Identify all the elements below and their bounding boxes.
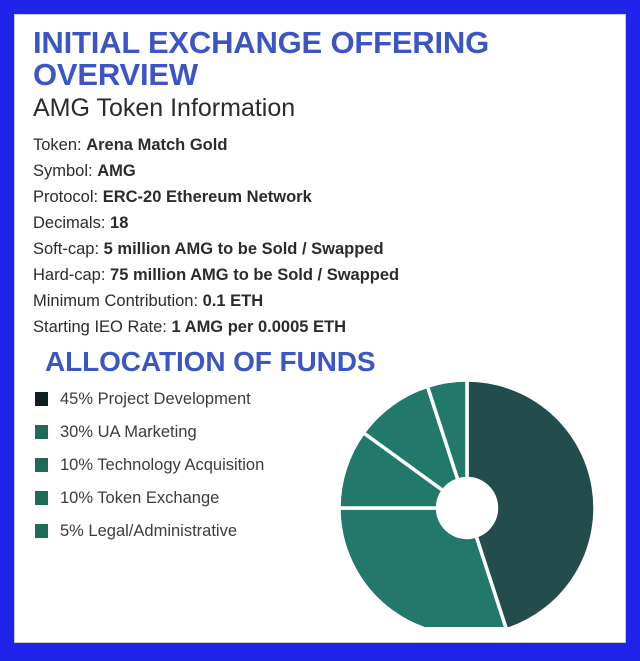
- token-info-row: Hard-cap: 75 million AMG to be Sold / Sw…: [33, 262, 619, 288]
- token-info-key: Decimals:: [33, 214, 105, 232]
- token-info-row: Decimals: 18: [33, 210, 619, 236]
- legend-item: 10% Technology Acquisition: [35, 449, 335, 482]
- token-info-row: Minimum Contribution: 0.1 ETH: [33, 288, 619, 314]
- legend-label: 10% Technology Acquisition: [60, 456, 264, 475]
- allocation-donut-chart: [322, 365, 612, 627]
- legend-swatch-icon: [35, 392, 48, 406]
- token-info-key: Starting IEO Rate:: [33, 318, 167, 336]
- token-info-value: Arena Match Gold: [86, 136, 227, 154]
- page-subtitle: AMG Token Information: [15, 91, 625, 123]
- token-info-key: Token:: [33, 136, 82, 154]
- legend-label: 10% Token Exchange: [60, 489, 219, 508]
- token-info-value: 1 AMG per 0.0005 ETH: [172, 318, 347, 336]
- legend-swatch-icon: [35, 458, 48, 472]
- donut-slice: [339, 508, 507, 627]
- poster-frame: INITIAL EXCHANGE OFFERING OVERVIEW AMG T…: [0, 0, 640, 661]
- token-info-row: Symbol: AMG: [33, 158, 619, 184]
- token-info-value: ERC-20 Ethereum Network: [103, 188, 312, 206]
- token-info-row: Soft-cap: 5 million AMG to be Sold / Swa…: [33, 236, 619, 262]
- legend-swatch-icon: [35, 425, 48, 439]
- token-info-key: Protocol:: [33, 188, 98, 206]
- token-info-value: 75 million AMG to be Sold / Swapped: [110, 266, 399, 284]
- content-card: INITIAL EXCHANGE OFFERING OVERVIEW AMG T…: [14, 14, 626, 643]
- page-title: INITIAL EXCHANGE OFFERING OVERVIEW: [15, 15, 625, 91]
- legend-item: 10% Token Exchange: [35, 482, 335, 515]
- token-info-key: Soft-cap:: [33, 240, 99, 258]
- token-info-row: Token: Arena Match Gold: [33, 132, 619, 158]
- legend-item: 45% Project Development: [35, 383, 335, 416]
- token-info-key: Hard-cap:: [33, 266, 105, 284]
- token-info-row: Starting IEO Rate: 1 AMG per 0.0005 ETH: [33, 314, 619, 340]
- token-info-value: AMG: [97, 162, 136, 180]
- donut-svg: [322, 365, 612, 627]
- allocation-section: 45% Project Development30% UA Marketing1…: [15, 377, 625, 627]
- legend-item: 5% Legal/Administrative: [35, 515, 335, 548]
- legend-label: 30% UA Marketing: [60, 423, 197, 442]
- token-info-key: Minimum Contribution:: [33, 292, 198, 310]
- legend-label: 45% Project Development: [60, 390, 251, 409]
- legend-swatch-icon: [35, 491, 48, 505]
- token-info-key: Symbol:: [33, 162, 93, 180]
- chart-legend: 45% Project Development30% UA Marketing1…: [35, 383, 335, 548]
- legend-label: 5% Legal/Administrative: [60, 522, 237, 541]
- token-info-value: 0.1 ETH: [203, 292, 264, 310]
- token-info-value: 18: [110, 214, 128, 232]
- legend-swatch-icon: [35, 524, 48, 538]
- token-info-row: Protocol: ERC-20 Ethereum Network: [33, 184, 619, 210]
- token-info-value: 5 million AMG to be Sold / Swapped: [104, 240, 384, 258]
- legend-item: 30% UA Marketing: [35, 416, 335, 449]
- token-info-list: Token: Arena Match GoldSymbol: AMGProtoc…: [15, 122, 625, 340]
